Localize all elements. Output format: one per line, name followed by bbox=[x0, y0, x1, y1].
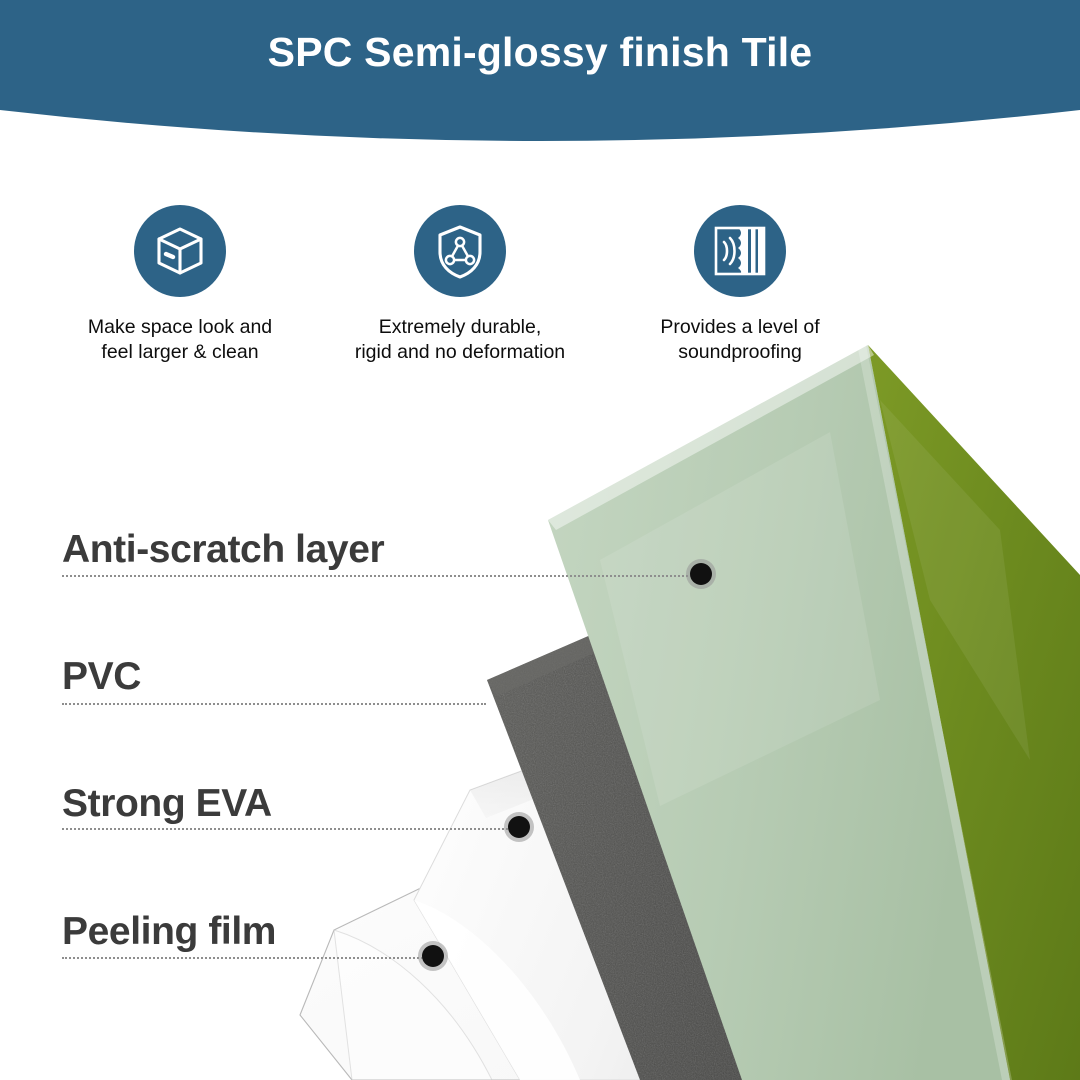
layer-label-peeling-film: Peeling film bbox=[62, 910, 276, 954]
layer-marker-peeling-film bbox=[422, 945, 444, 967]
leader-line-pvc bbox=[62, 703, 486, 705]
infographic-page: SPC Semi-glossy finish Tile Make space l… bbox=[0, 0, 1080, 1080]
layer-callouts: Anti-scratch layer PVC Strong EVA Peelin… bbox=[0, 0, 1080, 1080]
layer-label-strong-eva: Strong EVA bbox=[62, 782, 272, 826]
layer-marker-strong-eva bbox=[508, 816, 530, 838]
leader-line-strong-eva bbox=[62, 828, 512, 830]
leader-line-peeling-film bbox=[62, 957, 426, 959]
leader-line-anti-scratch bbox=[62, 575, 696, 577]
layer-label-pvc: PVC bbox=[62, 655, 141, 699]
layer-marker-anti-scratch bbox=[690, 563, 712, 585]
layer-label-anti-scratch: Anti-scratch layer bbox=[62, 528, 384, 572]
